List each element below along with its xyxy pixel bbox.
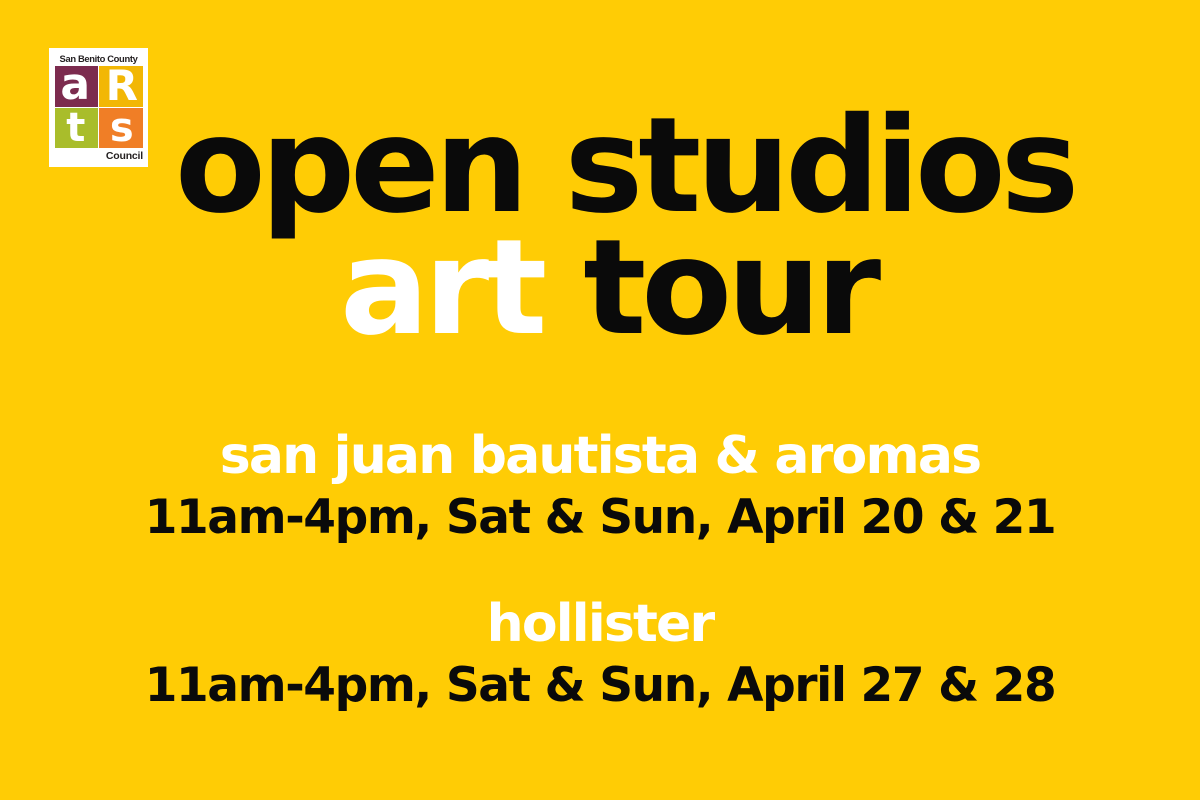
logo-tile-a: a (55, 66, 99, 107)
logo-tile-r: R (99, 66, 143, 107)
headline-line-open-studios: open studios (175, 110, 1074, 224)
logo-letter-a: a (60, 66, 90, 104)
logo-letter-grid: a R t s (55, 66, 143, 148)
event-datetime: 11am-4pm, Sat & Sun, April 20 & 21 (0, 494, 1200, 541)
event-block-san-juan-bautista-aromas: san juan bautista & aromas 11am-4pm, Sat… (0, 430, 1200, 541)
arts-council-logo[interactable]: San Benito County a R t s Council (49, 48, 148, 167)
headline-word-tour: tour (542, 211, 876, 365)
logo-letter-s: s (110, 109, 134, 147)
headline-line-art-tour: art tour (340, 232, 876, 346)
poster-canvas: San Benito County a R t s Council open s… (0, 0, 1200, 800)
event-city-name: hollister (0, 598, 1200, 650)
logo-top-text: San Benito County (53, 53, 144, 64)
event-city-name: san juan bautista & aromas (0, 430, 1200, 482)
logo-letter-r: R (106, 67, 138, 105)
logo-letter-t: t (66, 109, 85, 147)
headline-word-art: art (340, 211, 542, 365)
logo-tile-t: t (55, 108, 99, 149)
events-list: san juan bautista & aromas 11am-4pm, Sat… (0, 430, 1200, 709)
logo-bottom-text: Council (53, 150, 144, 163)
logo-tile-s: s (99, 108, 143, 149)
event-block-hollister: hollister 11am-4pm, Sat & Sun, April 27 … (0, 598, 1200, 709)
event-datetime: 11am-4pm, Sat & Sun, April 27 & 28 (0, 662, 1200, 709)
